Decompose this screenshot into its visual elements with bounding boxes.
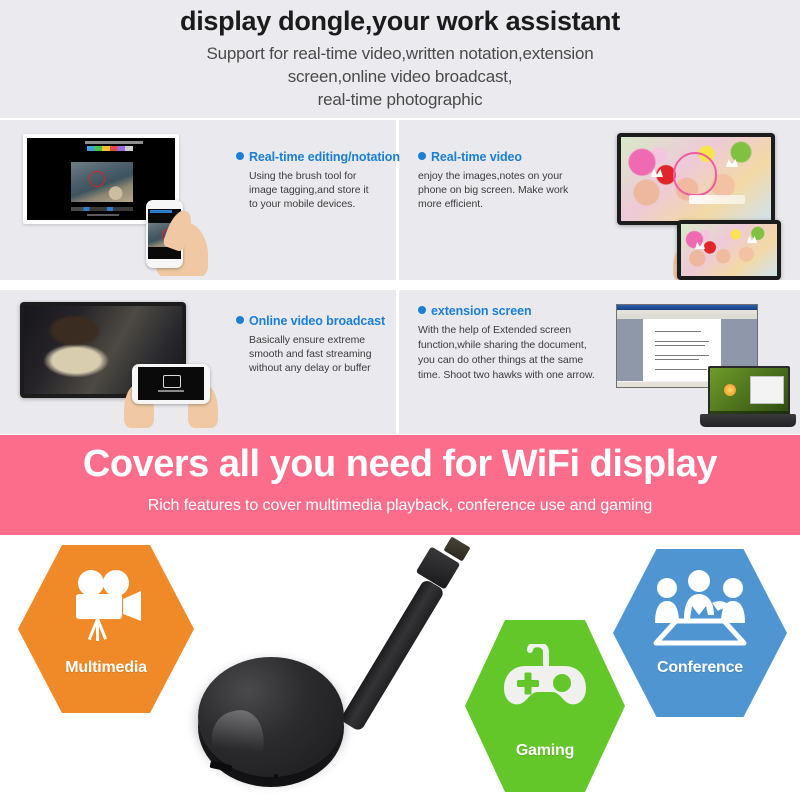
promo-banner-subtitle: Rich features to cover multimedia playba… bbox=[0, 497, 800, 515]
smartphone-landscape bbox=[132, 364, 210, 404]
promo-banner-title: Covers all you need for WiFi display bbox=[0, 443, 800, 486]
annotation-circle bbox=[89, 171, 105, 187]
feature-cell-editing: Real-time editing/notation Using the bru… bbox=[0, 120, 396, 280]
tablet-birthday-frame bbox=[681, 224, 777, 276]
hero-subtitle-line-1: Support for real-time video,written nota… bbox=[0, 42, 800, 65]
tv-color-swatches bbox=[87, 146, 133, 151]
cast-icon bbox=[163, 375, 181, 388]
phone-app-bar bbox=[150, 210, 172, 213]
feature-heading-extension: extension screen bbox=[418, 304, 618, 318]
feature-cell-broadcast: Online video broadcast Basically ensure … bbox=[0, 290, 396, 434]
document-text-line bbox=[655, 355, 709, 356]
document-text-line bbox=[655, 359, 699, 360]
document-text-line bbox=[655, 369, 707, 370]
laptop-screen bbox=[708, 366, 790, 418]
feature-body-extension: With the help of Extended screen functio… bbox=[418, 323, 618, 383]
feature-cell-extension: extension screen With the help of Extend… bbox=[399, 290, 800, 434]
feature-text-broadcast: Online video broadcast Basically ensure … bbox=[236, 314, 391, 376]
hero-section: display dongle,your work assistant Suppo… bbox=[0, 0, 800, 118]
grid-divider-horizontal bbox=[0, 280, 800, 290]
laptop-keyboard-base bbox=[700, 414, 796, 427]
movie-camera-icon bbox=[18, 569, 194, 648]
hero-subtitle: Support for real-time video,written nota… bbox=[0, 42, 800, 111]
feature-heading-video: Real-time video bbox=[418, 150, 593, 164]
feature-text-extension: extension screen With the help of Extend… bbox=[418, 304, 618, 383]
usecase-hex-gaming[interactable]: Gaming bbox=[465, 620, 625, 792]
usecase-label-multimedia: Multimedia bbox=[18, 659, 194, 677]
dongle-led bbox=[274, 774, 278, 778]
tv-frame bbox=[617, 133, 775, 225]
document-text-line bbox=[655, 341, 709, 342]
hero-subtitle-line-3: real-time photographic bbox=[0, 88, 800, 111]
laptop-wallpaper-logo bbox=[724, 384, 736, 396]
dongle-arm bbox=[340, 578, 446, 732]
bullet-dot-icon bbox=[418, 306, 426, 314]
feature-image-video bbox=[599, 124, 799, 280]
document-text-line bbox=[655, 331, 701, 332]
feature-image-extension bbox=[604, 294, 800, 434]
laptop-window bbox=[750, 376, 784, 404]
feature-body-video: enjoy the images,notes on your phone on … bbox=[418, 169, 593, 212]
feature-image-editing bbox=[16, 126, 221, 276]
feature-text-editing: Real-time editing/notation Using the bru… bbox=[236, 150, 386, 212]
page-title: display dongle,your work assistant bbox=[0, 6, 800, 37]
feature-heading-broadcast: Online video broadcast bbox=[236, 314, 391, 328]
feature-text-video: Real-time video enjoy the images,notes o… bbox=[418, 150, 593, 212]
product-dongle bbox=[170, 535, 470, 800]
heart-sticker-icon bbox=[673, 152, 717, 196]
promo-banner: Covers all you need for WiFi display Ric… bbox=[0, 435, 800, 535]
gamepad-icon bbox=[465, 644, 625, 723]
feature-body-editing: Using the brush tool for image tagging,a… bbox=[236, 169, 386, 212]
product-listing-page: display dongle,your work assistant Suppo… bbox=[0, 0, 800, 800]
tv-status-line bbox=[87, 214, 119, 216]
feature-body-broadcast: Basically ensure extreme smooth and fast… bbox=[236, 333, 391, 376]
happy-birthday-caption bbox=[689, 195, 745, 204]
usecase-label-conference: Conference bbox=[613, 659, 787, 677]
tablet bbox=[677, 220, 781, 280]
bullet-dot-icon bbox=[418, 152, 426, 160]
hero-subtitle-line-2: screen,online video broadcast, bbox=[0, 65, 800, 88]
feature-cell-video: Real-time video enjoy the images,notes o… bbox=[399, 120, 800, 280]
tv-toolbar bbox=[85, 141, 143, 144]
tv-bottom-controls bbox=[71, 207, 133, 211]
phone-screen bbox=[138, 367, 204, 400]
usecase-label-gaming: Gaming bbox=[465, 742, 625, 760]
usecase-section: Multimedia Gaming bbox=[0, 535, 800, 800]
feature-image-broadcast bbox=[12, 298, 224, 430]
feature-grid: Real-time editing/notation Using the bru… bbox=[0, 118, 800, 434]
usecase-hex-conference[interactable]: Conference bbox=[613, 549, 787, 717]
bullet-dot-icon bbox=[236, 152, 244, 160]
document-text-line bbox=[655, 345, 705, 346]
tv-screen bbox=[621, 137, 771, 221]
meeting-people-icon bbox=[613, 569, 787, 654]
tablet-screen bbox=[681, 224, 777, 276]
bullet-dot-icon bbox=[236, 316, 244, 324]
feature-heading-editing: Real-time editing/notation bbox=[236, 150, 386, 164]
cast-label bbox=[158, 390, 184, 392]
usecase-hex-multimedia[interactable]: Multimedia bbox=[18, 545, 194, 713]
